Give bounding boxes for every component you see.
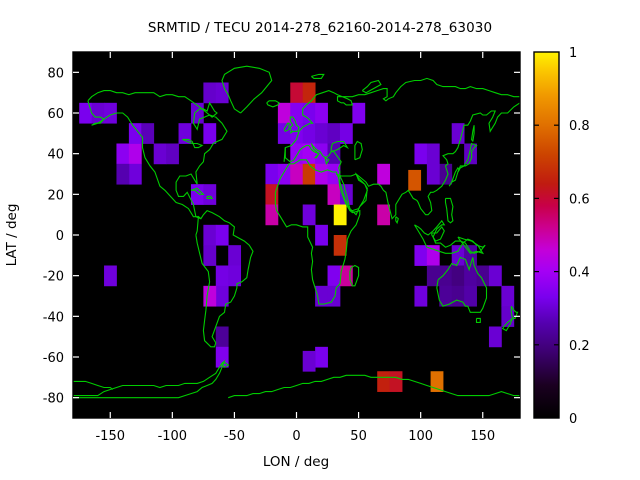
heatmap-cell [334, 235, 347, 256]
figure-canvas: SRMTID / TECU 2014-278_62160-2014-278_63… [0, 0, 640, 480]
heatmap-cell [315, 164, 328, 185]
heatmap-cell [452, 123, 465, 144]
heatmap-cell [303, 103, 316, 124]
colorbar-tick-label: 0.8 [569, 119, 590, 134]
colorbar-tick-label: 1 [569, 46, 577, 61]
heatmap-cell [390, 371, 403, 392]
y-tick-label: 60 [47, 107, 64, 122]
heatmap-cell [408, 170, 421, 191]
heatmap-cell [166, 144, 179, 165]
heatmap-cell [265, 184, 278, 205]
colorbar-tick-label: 0 [569, 412, 577, 427]
heatmap-cell [414, 245, 427, 266]
heatmap-cell [427, 144, 440, 165]
heatmap-cell [290, 83, 303, 104]
x-tick-label: -100 [158, 429, 188, 444]
heatmap-cell [315, 347, 328, 368]
y-axis-title: LAT / deg [4, 204, 20, 267]
heatmap-cell [315, 123, 328, 144]
heatmap-cell [427, 164, 440, 185]
heatmap-cell [203, 245, 216, 266]
heatmap-cell [328, 184, 341, 205]
heatmap-cell [116, 164, 129, 185]
colorbar-tick-label: 0.6 [569, 192, 590, 207]
heatmap-cell [216, 327, 229, 348]
y-tick-label: -20 [43, 270, 64, 285]
y-tick-label: 40 [47, 148, 64, 163]
heatmap-cell [154, 144, 167, 165]
heatmap-cell [203, 286, 216, 307]
heatmap-cell [439, 266, 452, 287]
heatmap-cell [328, 164, 341, 185]
heatmap-cell [377, 205, 390, 226]
heatmap-cell [216, 266, 229, 287]
x-tick-label: 150 [470, 429, 495, 444]
heatmap-cell [290, 103, 303, 124]
heatmap-cell [203, 225, 216, 246]
heatmap-cell [265, 164, 278, 185]
heatmap-cell [203, 123, 216, 144]
x-tick-label: -50 [224, 429, 245, 444]
heatmap-cell [452, 286, 465, 307]
heatmap-cell [116, 144, 129, 165]
x-tick-label: -150 [95, 429, 125, 444]
colorbar-tick-label: 0.4 [569, 266, 590, 281]
x-axis-title: LON / deg [263, 454, 329, 470]
heatmap-cell [129, 164, 142, 185]
x-tick-label: 50 [350, 429, 367, 444]
heatmap-cell [129, 144, 142, 165]
heatmap-cell [377, 164, 390, 185]
y-tick-label: -40 [43, 310, 64, 325]
x-tick-label: 0 [292, 429, 300, 444]
y-tick-label: 20 [47, 188, 64, 203]
heatmap-cell [352, 103, 365, 124]
heatmap-cell [216, 225, 229, 246]
heatmap-cell [340, 123, 353, 144]
heatmap-cell [278, 103, 291, 124]
heatmap-cell [315, 225, 328, 246]
heatmap-cell [203, 184, 216, 205]
heatmap-cell [501, 286, 514, 307]
heatmap-cell [489, 327, 502, 348]
heatmap-cell [303, 205, 316, 226]
heatmap-cell [452, 266, 465, 287]
heatmap-cell [328, 123, 341, 144]
world-heatmap-plot: -150-100-50050100150 806040200-20-40-60-… [0, 0, 640, 480]
heatmap-cell [79, 103, 92, 124]
heatmap-cell [228, 245, 241, 266]
heatmap-cell [377, 371, 390, 392]
y-tick-label: -80 [43, 392, 64, 407]
heatmap-cell [334, 205, 347, 226]
x-tick-label: 100 [408, 429, 433, 444]
heatmap-cell [489, 266, 502, 287]
y-tick-label: 0 [56, 229, 64, 244]
heatmap-cell [328, 266, 341, 287]
y-tick-label: 80 [47, 66, 64, 81]
heatmap-cell [141, 123, 154, 144]
heatmap-cell [464, 286, 477, 307]
heatmap-cell [414, 144, 427, 165]
heatmap-cell [315, 103, 328, 124]
colorbar-gradient [534, 52, 559, 418]
y-tick-label: -60 [43, 351, 64, 366]
heatmap-cell [477, 266, 490, 287]
heatmap-cell [303, 83, 316, 104]
heatmap-cell [290, 164, 303, 185]
heatmap-cell [328, 286, 341, 307]
heatmap-cell [303, 351, 316, 372]
colorbar-tick-label: 0.2 [569, 339, 590, 354]
heatmap-cell [303, 164, 316, 185]
heatmap-cell [104, 266, 117, 287]
heatmap-cell [203, 83, 216, 104]
heatmap-cell [414, 286, 427, 307]
